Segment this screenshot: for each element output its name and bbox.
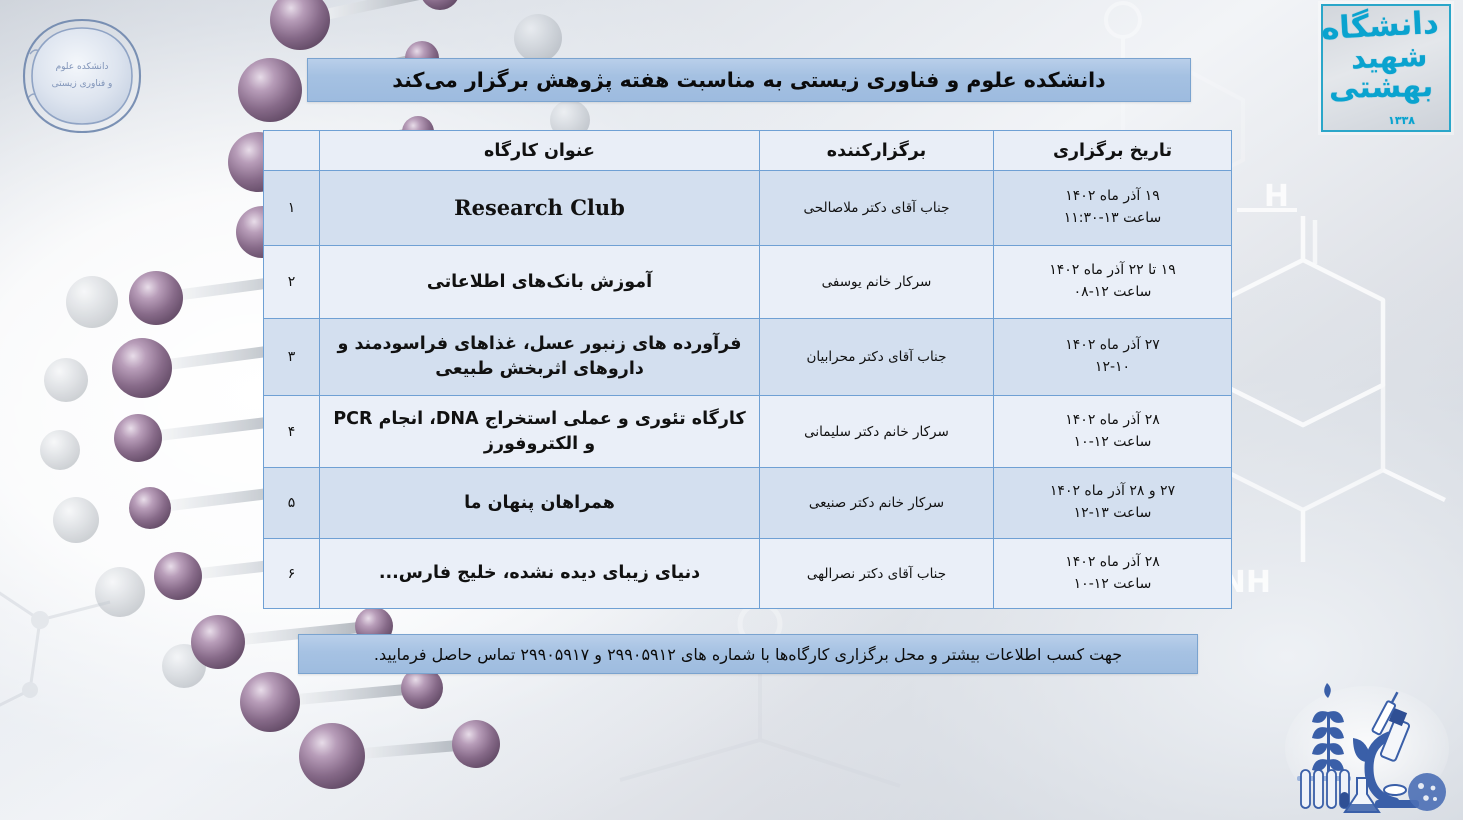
title-banner: دانشکده علوم و فناوری زیستی به مناسبت هف… [307,58,1191,102]
molecule-chain-graphic [430,590,1050,820]
cell-date: ۲۸ آذر ماه ۱۴۰۲ ساعت ۱۲-۱۰ [994,539,1232,609]
date-line-1: ۱۹ تا ۲۲ آذر ماه ۱۴۰۲ [1000,260,1225,282]
university-logo-word2: شهید [1350,43,1427,72]
biotechnology-emblem-graphic [1283,682,1451,814]
cell-workshop-title: فرآورده های زنبور عسل، غذاهای فراسودمند … [320,319,760,396]
column-header-date: تاریخ برگزاری [994,131,1232,171]
workshop-table: تاریخ برگزاری برگزارکننده عنوان کارگاه ۱… [263,130,1232,609]
cell-host: جناب آقای دکتر نصرالهی [760,539,994,609]
cell-row-number: ۲ [264,246,320,319]
cell-row-number: ۶ [264,539,320,609]
cell-host: سرکار خانم دکتر سلیمانی [760,396,994,468]
column-header-title: عنوان کارگاه [320,131,760,171]
cell-date: ۱۹ تا ۲۲ آذر ماه ۱۴۰۲ ساعت ۱۲-۰۸ [994,246,1232,319]
column-header-host: برگزارکننده [760,131,994,171]
cell-row-number: ۵ [264,468,320,539]
date-line-2: ۱۲-۱۰ [1000,357,1225,379]
date-line-2: ساعت ۱۳-۱۱:۳۰ [1000,208,1225,230]
table-row[interactable]: ۱۹ تا ۲۲ آذر ماه ۱۴۰۲ ساعت ۱۲-۰۸ سرکار خ… [264,246,1232,319]
university-logo-calligraphy: دانشگاه شهید بهشتی ۱۳۳۸ [1323,6,1449,130]
cell-host: سرکار خانم یوسفی [760,246,994,319]
faculty-seal-line1: دانشکده علوم [56,62,109,74]
table-row[interactable]: ۲۷ و ۲۸ آذر ماه ۱۴۰۲ ساعت ۱۳-۱۲ سرکار خا… [264,468,1232,539]
date-line-2: ساعت ۱۳-۱۲ [1000,503,1225,525]
date-line-1: ۲۷ آذر ماه ۱۴۰۲ [1000,335,1225,357]
column-header-number [264,131,320,171]
cell-date: ۲۷ آذر ماه ۱۴۰۲ ۱۲-۱۰ [994,319,1232,396]
cell-workshop-title: Research Club [320,171,760,246]
cell-workshop-title: همراهان پنهان ما [320,468,760,539]
cell-date: ۱۹ آذر ماه ۱۴۰۲ ساعت ۱۳-۱۱:۳۰ [994,171,1232,246]
table-row[interactable]: ۲۸ آذر ماه ۱۴۰۲ ساعت ۱۲-۱۰ سرکار خانم دک… [264,396,1232,468]
table-header-row: تاریخ برگزاری برگزارکننده عنوان کارگاه [264,131,1232,171]
cell-row-number: ۳ [264,319,320,396]
biotechnology-emblem [1283,682,1451,814]
cell-host: جناب آقای دکتر محرابیان [760,319,994,396]
footer-notice-text: جهت کسب اطلاعات بیشتر و محل برگزاری کارگ… [374,645,1122,664]
cell-row-number: ۱ [264,171,320,246]
footer-notice-banner: جهت کسب اطلاعات بیشتر و محل برگزاری کارگ… [298,634,1198,674]
university-logo: دانشگاه شهید بهشتی ۱۳۳۸ [1321,4,1451,132]
date-line-2: ساعت ۱۲-۱۰ [1000,432,1225,454]
date-line-2: ساعت ۱۲-۱۰ [1000,574,1225,596]
table-row[interactable]: ۲۸ آذر ماه ۱۴۰۲ ساعت ۱۲-۱۰ جناب آقای دکت… [264,539,1232,609]
workshop-table-head: تاریخ برگزاری برگزارکننده عنوان کارگاه [264,131,1232,171]
faculty-seal-line2: و فناوری زیستی [52,79,113,91]
date-line-2: ساعت ۱۲-۰۸ [1000,282,1225,304]
workshop-table-container: تاریخ برگزاری برگزارکننده عنوان کارگاه ۱… [264,130,1232,609]
cell-icon [1408,773,1446,811]
date-line-1: ۲۷ و ۲۸ آذر ماه ۱۴۰۲ [1000,481,1225,503]
date-line-1: ۲۸ آذر ماه ۱۴۰۲ [1000,410,1225,432]
cell-host: سرکار خانم دکتر صنیعی [760,468,994,539]
poster-canvas: CH 3 H NH [0,0,1463,820]
cell-workshop-title: کارگاه تئوری و عملی استخراج DNA، انجام P… [320,396,760,468]
date-line-1: ۲۸ آذر ماه ۱۴۰۲ [1000,552,1225,574]
university-logo-year: ۱۳۳۸ [1388,116,1415,126]
cell-date: ۲۸ آذر ماه ۱۴۰۲ ساعت ۱۲-۱۰ [994,396,1232,468]
faculty-seal-logo: دانشکده علوم و فناوری زیستی [14,14,150,138]
table-row[interactable]: ۱۹ آذر ماه ۱۴۰۲ ساعت ۱۳-۱۱:۳۰ جناب آقای … [264,171,1232,246]
title-banner-text: دانشکده علوم و فناوری زیستی به مناسبت هف… [392,68,1105,92]
workshop-table-body: ۱۹ آذر ماه ۱۴۰۲ ساعت ۱۳-۱۱:۳۰ جناب آقای … [264,171,1232,609]
cell-row-number: ۴ [264,396,320,468]
cell-date: ۲۷ و ۲۸ آذر ماه ۱۴۰۲ ساعت ۱۳-۱۲ [994,468,1232,539]
chem-label-h: H [1264,180,1289,214]
cell-workshop-title: آموزش بانک‌های اطلاعاتی [320,246,760,319]
cell-workshop-title: دنیای زیبای دیده نشده، خلیج فارس... [320,539,760,609]
table-row[interactable]: ۲۷ آذر ماه ۱۴۰۲ ۱۲-۱۰ جناب آقای دکتر محر… [264,319,1232,396]
cell-host: جناب آقای دکتر ملاصالحی [760,171,994,246]
date-line-1: ۱۹ آذر ماه ۱۴۰۲ [1000,186,1225,208]
university-logo-word3: بهشتی [1329,73,1434,102]
